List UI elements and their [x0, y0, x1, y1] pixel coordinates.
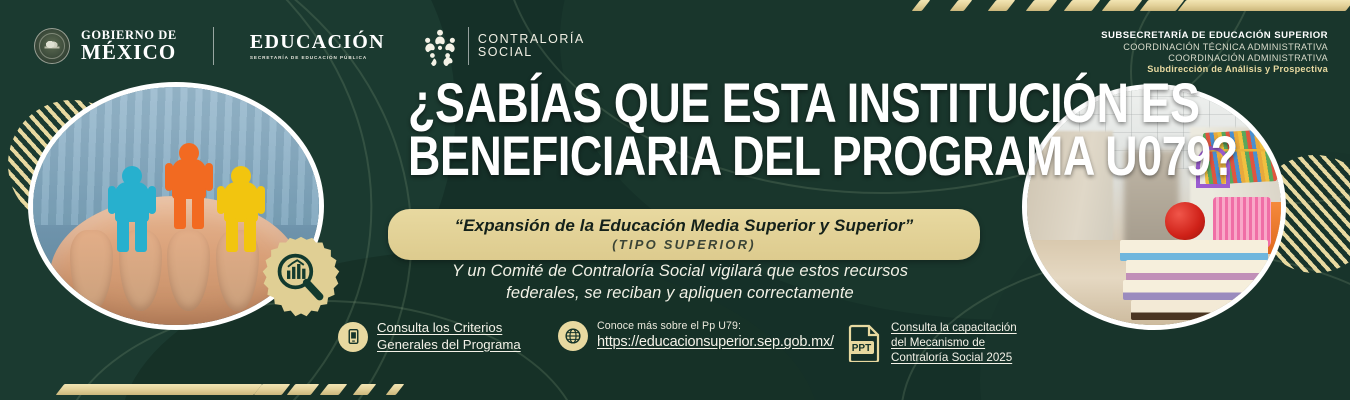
document-phone-icon: [338, 322, 368, 352]
contraloria-social-people-mark-icon: [421, 26, 459, 66]
gobierno-de-mexico-logo: GOBIERNO DE MÉXICO: [34, 28, 177, 64]
photo-right-book-stack: [1118, 226, 1275, 320]
banner-u079: GOBIERNO DE MÉXICO EDUCACIÓN SECRETARÍA …: [0, 0, 1350, 400]
subtitle-text: Y un Comité de Contraloría Social vigila…: [370, 260, 990, 304]
program-subtitle: (TIPO SUPERIOR): [398, 237, 970, 252]
educacion-line2: SECRETARÍA DE EDUCACIÓN PÚBLICA: [250, 56, 385, 61]
magnifier-bar-chart-badge-icon: [254, 236, 348, 320]
link-capacitacion-line2[interactable]: del Mecanismo de: [891, 336, 985, 349]
page-title: ¿SABÍAS QUE ESTA INSTITUCIÓN ES BENEFICI…: [408, 76, 952, 182]
mexico-eagle-seal-icon: [34, 28, 70, 64]
link-website-caption: Conoce más sobre el Pp U79:: [597, 320, 834, 333]
headline-line2: BENEFICIARIA DEL PROGRAMA U079?: [408, 129, 952, 182]
educacion-line1: EDUCACIÓN: [250, 32, 385, 52]
link-criterios-line1[interactable]: Consulta los Criterios: [377, 320, 502, 335]
link-criterios-text[interactable]: Consulta los Criterios Generales del Pro…: [377, 320, 521, 353]
ppt-file-icon: PPT: [848, 324, 882, 362]
link-criterios-line2[interactable]: Generales del Programa: [377, 337, 521, 352]
paper-person-blue: [107, 166, 157, 254]
link-capacitacion[interactable]: PPT Consulta la capacitación del Mecanis…: [848, 320, 1063, 365]
link-website-text[interactable]: Conoce más sobre el Pp U79: https://educ…: [597, 320, 834, 352]
link-criterios-generales[interactable]: Consulta los Criterios Generales del Pro…: [338, 320, 558, 353]
gobierno-line2: MÉXICO: [81, 42, 177, 63]
paper-person-orange: [162, 143, 216, 239]
globe-icon: [558, 321, 588, 351]
svg-text:PPT: PPT: [852, 343, 871, 354]
subtitle-line1: Y un Comité de Contraloría Social vigila…: [370, 260, 990, 282]
department-line1: SUBSECRETARÍA DE EDUCACIÓN SUPERIOR: [1101, 30, 1328, 42]
headline-line1: ¿SABÍAS QUE ESTA INSTITUCIÓN ES: [408, 76, 952, 129]
department-line2: COORDINACIÓN TÉCNICA ADMINISTRATIVA: [1101, 42, 1328, 53]
logo-divider-1: [213, 27, 214, 65]
subtitle-line2: federales, se reciban y apliquen correct…: [370, 282, 990, 304]
link-website[interactable]: Conoce más sobre el Pp U79: https://educ…: [558, 320, 848, 352]
footer-links: Consulta los Criterios Generales del Pro…: [338, 320, 1068, 382]
program-title: “Expansión de la Educación Media Superio…: [398, 216, 970, 236]
link-capacitacion-line3[interactable]: Contraloría Social 2025: [891, 351, 1012, 364]
program-name-box: “Expansión de la Educación Media Superio…: [388, 209, 980, 260]
logo-divider-2: [468, 27, 469, 65]
link-capacitacion-line1[interactable]: Consulta la capacitación: [891, 321, 1017, 334]
department-block: SUBSECRETARÍA DE EDUCACIÓN SUPERIOR COOR…: [1101, 30, 1328, 75]
contraloria-line2: SOCIAL: [478, 46, 585, 59]
link-capacitacion-text[interactable]: Consulta la capacitación del Mecanismo d…: [891, 320, 1017, 365]
link-website-url[interactable]: https://educacionsuperior.sep.gob.mx/: [597, 334, 834, 350]
department-line3: COORDINACIÓN ADMINISTRATIVA: [1101, 53, 1328, 64]
header-logos: GOBIERNO DE MÉXICO EDUCACIÓN SECRETARÍA …: [34, 26, 585, 66]
contraloria-social-logo: CONTRALORÍA SOCIAL: [421, 26, 585, 66]
educacion-logo: EDUCACIÓN SECRETARÍA DE EDUCACIÓN PÚBLIC…: [250, 32, 385, 61]
